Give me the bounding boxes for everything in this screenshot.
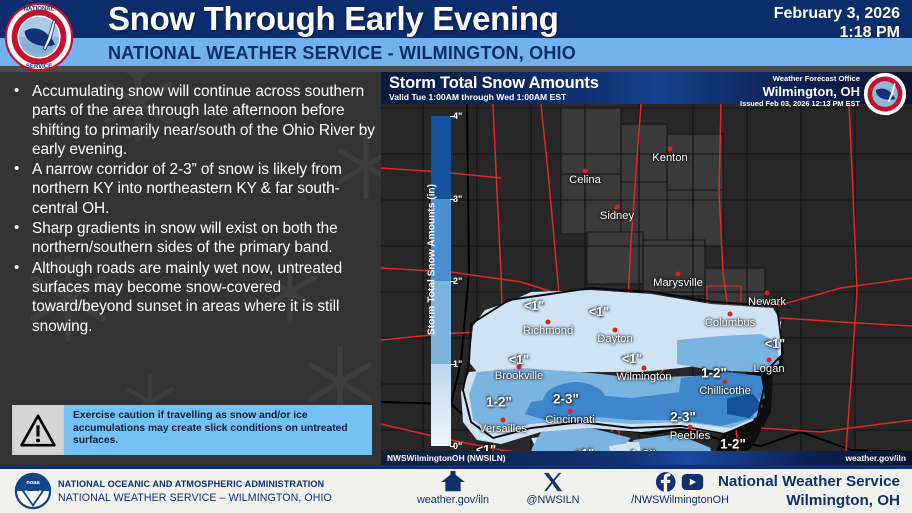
- caution-icon-box: [12, 405, 64, 455]
- footer-divider: [0, 465, 912, 469]
- city-marker-dot: [728, 312, 733, 317]
- footer-office-line1: National Weather Service: [718, 472, 900, 491]
- city-marker-dot: [615, 205, 620, 210]
- city-label: Columbus: [705, 317, 755, 329]
- city-label: Cincinnati: [545, 414, 594, 426]
- snow-amount-label: 2-3": [553, 392, 579, 407]
- snow-amount-label: <1": [589, 305, 609, 319]
- svg-text:SERVICE: SERVICE: [26, 64, 52, 70]
- timestamp: February 3, 2026 1:18 PM: [774, 4, 900, 42]
- snow-amount-label: 1-2": [720, 437, 746, 452]
- city-label: Brookville: [495, 370, 544, 382]
- city-marker-dot: [613, 328, 618, 333]
- city-marker-dot: [767, 358, 772, 363]
- noaa-line2: NATIONAL WEATHER SERVICE – WILMINGTON, O…: [58, 491, 332, 506]
- city-label: Wilmington: [616, 371, 671, 383]
- issue-time: 1:18 PM: [774, 23, 900, 42]
- footer-link-twitter[interactable]: @NWSILN: [498, 471, 608, 508]
- map-issued-time: Issued Feb 03, 2026 12:13 PM EST: [740, 99, 860, 109]
- city-label: Versailles: [479, 423, 527, 435]
- header-banner: NATIONAL SERVICE Snow Through Early Even…: [0, 0, 912, 68]
- colorbar-tick-4: 4": [453, 111, 462, 121]
- caution-text: Exercise caution if travelling as snow a…: [64, 405, 372, 455]
- map-social-handle: NWSWilmingtonOH (NWSILN): [387, 452, 506, 464]
- city-label: Peebles: [670, 430, 710, 442]
- nws-seal-icon: [862, 72, 908, 117]
- page-title: Snow Through Early Evening: [108, 0, 559, 39]
- colorbar-tick-0: 0": [453, 441, 462, 451]
- svg-text:noaa: noaa: [26, 480, 40, 486]
- map-footer-bar: NWSWilmingtonOH (NWSILN) weather.gov/iln: [381, 451, 912, 465]
- list-item: Sharp gradients in snow will exist on bo…: [10, 219, 375, 258]
- map-valid-time: Valid Tue 1:00AM through Wed 1:00AM EST: [389, 92, 566, 103]
- list-item: Accumulating snow will continue across s…: [10, 82, 375, 159]
- snow-amount-label: <1": [524, 299, 544, 313]
- warning-triangle-icon: [19, 413, 57, 448]
- city-label: Logan: [753, 363, 784, 375]
- nws-seal-icon: NATIONAL SERVICE: [3, 1, 75, 73]
- caution-box: Exercise caution if travelling as snow a…: [12, 405, 372, 455]
- city-marker-dot: [583, 169, 588, 174]
- city-marker-dot: [501, 418, 506, 423]
- svg-text:NATIONAL: NATIONAL: [24, 6, 55, 12]
- city-marker-dot: [642, 366, 647, 371]
- noaa-text: NATIONAL OCEANIC AND ATMOSPHERIC ADMINIS…: [58, 478, 332, 506]
- city-label: Marysville: [653, 277, 703, 289]
- issue-date: February 3, 2026: [774, 4, 900, 23]
- city-marker-dot: [688, 425, 693, 430]
- footer-office-name: National Weather Service Wilmington, OH: [718, 472, 900, 510]
- bullet-list: Accumulating snow will continue across s…: [0, 72, 381, 336]
- x-twitter-icon: [498, 471, 608, 493]
- wfo-label: Weather Forecast Office: [740, 73, 860, 84]
- snow-amount-map[interactable]: Storm Total Snow Amounts Valid Tue 1:00A…: [381, 72, 912, 465]
- snow-amount-label: 1-2": [486, 395, 512, 410]
- city-marker-dot: [568, 409, 573, 414]
- noaa-line1: NATIONAL OCEANIC AND ATMOSPHERIC ADMINIS…: [58, 478, 332, 491]
- city-label: Richmond: [523, 325, 573, 337]
- snow-amount-label: 2-3": [670, 410, 696, 425]
- weather-graphic: NATIONAL SERVICE Snow Through Early Even…: [0, 0, 912, 513]
- map-website: weather.gov/iln: [845, 452, 906, 464]
- snow-amount-label: <1": [509, 353, 529, 367]
- snow-amount-label: <1": [765, 337, 785, 351]
- city-label: Chillicothe: [699, 385, 751, 397]
- snow-amount-label: <1": [622, 352, 642, 366]
- map-title: Storm Total Snow Amounts: [389, 73, 599, 93]
- map-header-bar: Storm Total Snow Amounts Valid Tue 1:00A…: [381, 72, 912, 104]
- city-marker-dot: [765, 291, 770, 296]
- snow-amount-label: 1-2": [701, 366, 727, 381]
- colorbar-title: Storm Total Snow Amounts (in): [427, 140, 438, 380]
- list-item: A narrow corridor of 2-3” of snow is lik…: [10, 160, 375, 218]
- city-label: Dayton: [597, 333, 632, 345]
- noaa-seal-icon: noaa: [14, 472, 52, 510]
- colorbar-tick-2: 2": [453, 276, 462, 286]
- city-label: Celina: [569, 174, 601, 186]
- city-marker-dot: [676, 272, 681, 277]
- footer-office-line2: Wilmington, OH: [718, 491, 900, 510]
- city-label: Kenton: [652, 152, 687, 164]
- map-colorbar: 4" 3" 2" 1" 0" Storm Total Snow Amounts …: [407, 114, 463, 454]
- city-label: Newark: [748, 296, 786, 308]
- colorbar-tick-1: 1": [453, 359, 462, 369]
- list-item: Although roads are mainly wet now, untre…: [10, 259, 375, 336]
- colorbar-tick-3: 3": [453, 194, 462, 204]
- city-label: Sidney: [600, 210, 634, 222]
- wfo-info: Weather Forecast Office Wilmington, OH I…: [740, 73, 860, 109]
- city-marker-dot: [546, 320, 551, 325]
- city-marker-dot: [668, 147, 673, 152]
- wfo-name: Wilmington, OH: [740, 84, 860, 99]
- footer-twitter-label: @NWSILN: [498, 493, 608, 508]
- page-subtitle: NATIONAL WEATHER SERVICE - WILMINGTON, O…: [108, 41, 576, 65]
